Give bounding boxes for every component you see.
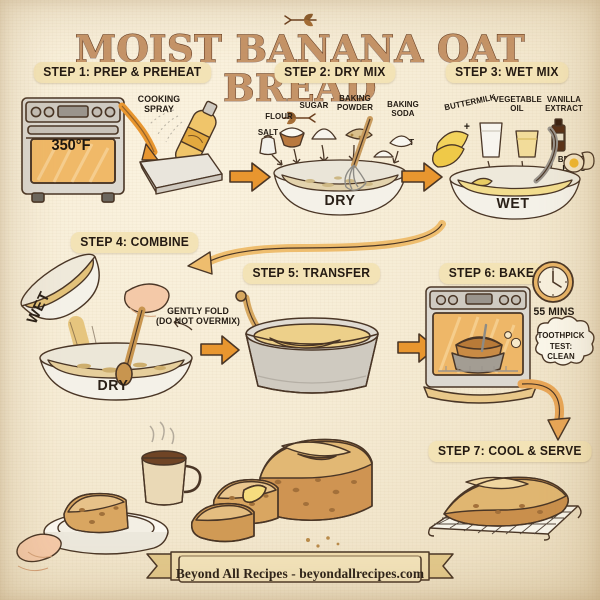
clock-icon [530,259,576,305]
oven-temperature-label: 350°F [29,138,114,154]
step-7-heading: STEP 7: COOL & SERVE [428,441,591,462]
step-4-heading: STEP 4: COMBINE [71,232,199,253]
recipe-infographic: MOIST BANANA OAT BREAD STEP 1: PREP & PR… [0,0,600,600]
bake-timer-label: 55 MINS [526,307,582,319]
cooling-rack-loaf-illustration [418,462,590,554]
step-2-heading: STEP 2: DRY MIX [275,62,396,83]
step-1-heading: STEP 1: PREP & PREHEAT [34,62,211,83]
gently-fold-note: GENTLY FOLD (DO NOT OVERMIX) [151,307,245,327]
sliced-loaf-with-butter-illustration [186,430,378,558]
step-3-heading: STEP 3: WET MIX [446,62,569,83]
transfer-pan-illustration [232,288,392,398]
wet-bowl-label: WET [480,196,546,212]
dry-bowl-label-step4: DRY [80,378,146,394]
toothpick-test-label: TOOTHPICK TEST: CLEAN [529,330,593,362]
step-6-heading: STEP 6: BAKE [439,263,544,284]
step-5-heading: STEP 5: TRANSFER [243,263,380,284]
footer-ribbon-text: Beyond All Recipes - beyondallrecipes.co… [0,566,600,582]
dry-bowl-label: DRY [302,193,377,209]
spray-and-pan-illustration [112,88,232,198]
arrow-step6-to-step7-icon [512,380,582,446]
